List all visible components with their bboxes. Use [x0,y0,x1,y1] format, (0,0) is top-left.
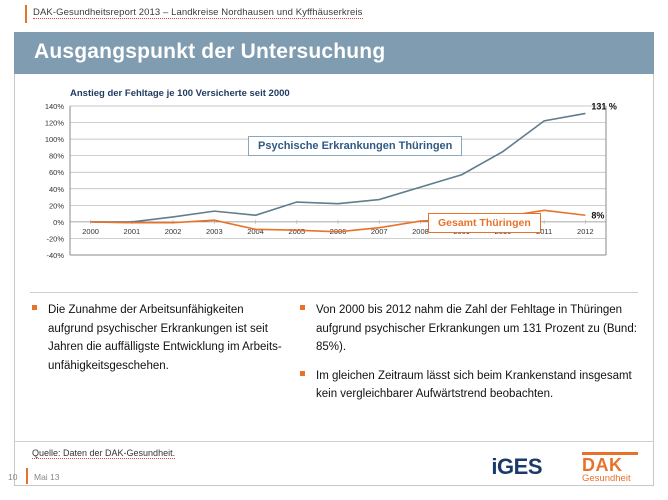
chart-container: Anstieg der Fehltage je 100 Versicherte … [14,78,654,278]
svg-text:2012: 2012 [577,227,594,236]
svg-text:140%: 140% [45,102,65,111]
svg-text:60%: 60% [49,168,64,177]
content-divider [30,292,638,293]
footer-accent-bar [26,468,28,484]
header-accent-bar [25,5,27,23]
svg-text:0%: 0% [53,218,64,227]
svg-text:20%: 20% [49,201,64,210]
svg-text:40%: 40% [49,185,64,194]
bullet-text: Von 2000 bis 2012 nahm die Zahl der Fehl… [316,304,637,353]
svg-text:2008: 2008 [412,227,429,236]
svg-text:80%: 80% [49,152,64,161]
slide-root: DAK-Gesundheitsreport 2013 – Landkreise … [0,0,668,500]
list-item: Im gleichen Zeitraum lässt sich beim Kra… [298,366,640,403]
svg-text:100%: 100% [45,135,65,144]
bullet-text: Die Zunahme der Arbeitsunfähigkeiten auf… [48,304,282,372]
list-item: Die Zunahme der Arbeitsunfähigkeiten auf… [30,300,292,374]
slide-header: DAK-Gesundheitsreport 2013 – Landkreise … [0,0,668,30]
dak-logo-main: DAK [582,456,638,474]
footer-divider [14,441,654,442]
svg-text:8%: 8% [591,210,604,220]
line-chart: 140%120%100%80%60%40%20%0%-20%-40%200020… [14,100,654,278]
bullet-text: Im gleichen Zeitraum lässt sich beim Kra… [316,370,632,401]
dak-logo-sub: Gesundheit [582,474,638,484]
svg-text:-40%: -40% [46,251,64,260]
header-title: DAK-Gesundheitsreport 2013 – Landkreise … [33,7,363,18]
bullet-column-right: Von 2000 bis 2012 nahm die Zahl der Fehl… [298,300,640,413]
iges-logo: iGES [491,454,542,480]
svg-text:2001: 2001 [124,227,141,236]
page-title: Ausgangspunkt der Untersuchung [34,40,385,64]
bullet-column-left: Die Zunahme der Arbeitsunfähigkeiten auf… [30,300,292,384]
svg-text:2002: 2002 [165,227,182,236]
svg-text:2000: 2000 [82,227,99,236]
source-note: Quelle: Daten der DAK-Gesundheit. [32,448,175,458]
svg-text:120%: 120% [45,119,65,128]
svg-text:2005: 2005 [288,227,305,236]
svg-text:131 %: 131 % [591,101,617,111]
title-banner: Ausgangspunkt der Untersuchung [14,32,654,74]
callout-gesamt: Gesamt Thüringen [428,213,541,233]
bullet-marker-icon [300,371,305,376]
page-number: 10 [8,472,17,482]
footer-date: Mai 13 [34,472,60,482]
list-item: Von 2000 bis 2012 nahm die Zahl der Fehl… [298,300,640,356]
callout-psychische: Psychische Erkrankungen Thüringen [248,136,462,156]
bullet-marker-icon [32,305,37,310]
chart-title: Anstieg der Fehltage je 100 Versicherte … [70,88,290,99]
svg-text:2003: 2003 [206,227,223,236]
dak-logo: DAK Gesundheit [582,452,638,484]
svg-text:-20%: -20% [46,234,64,243]
bullet-marker-icon [300,305,305,310]
